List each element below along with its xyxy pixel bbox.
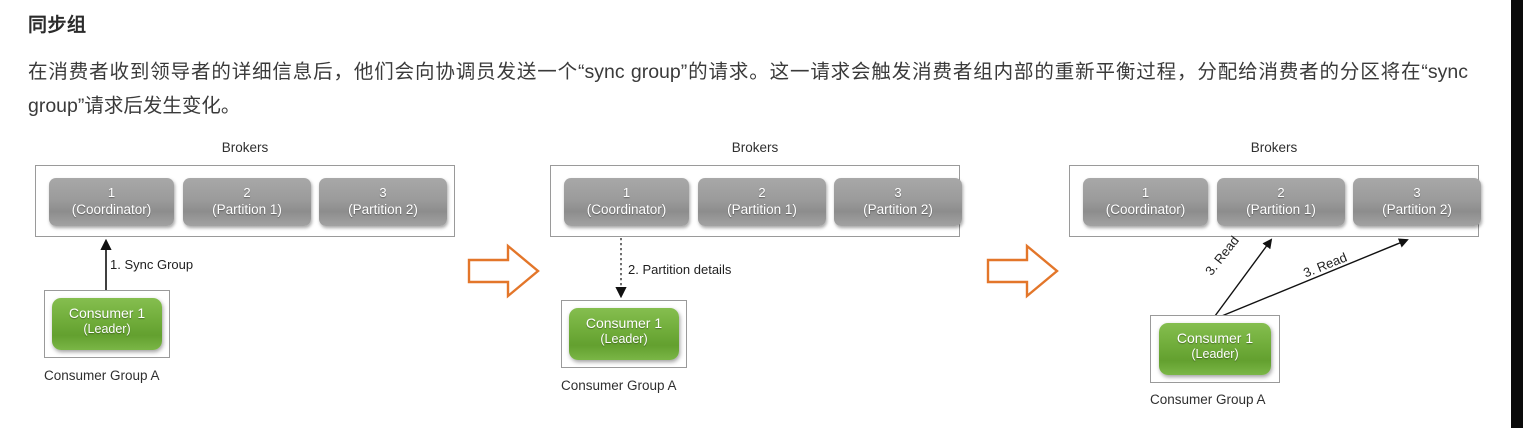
broker-node-1: 1 (Coordinator) xyxy=(1083,178,1208,226)
broker-node-3: 3 (Partition 2) xyxy=(319,178,447,226)
right-edge-strip xyxy=(1511,0,1523,428)
broker-role: (Coordinator) xyxy=(49,201,174,218)
broker-node-2: 2 (Partition 1) xyxy=(183,178,311,226)
broker-node-2: 2 (Partition 1) xyxy=(1217,178,1345,226)
broker-role: (Coordinator) xyxy=(1083,201,1208,218)
broker-number: 3 xyxy=(834,184,962,201)
consumer-group-caption: Consumer Group A xyxy=(561,378,677,393)
diagram-panel-2: Brokers 1 (Coordinator) 2 (Partition 1) … xyxy=(545,140,965,425)
broker-number: 2 xyxy=(698,184,826,201)
broker-role: (Partition 1) xyxy=(698,201,826,218)
broker-node-1: 1 (Coordinator) xyxy=(564,178,689,226)
consumer-node: Consumer 1 (Leader) xyxy=(52,298,162,350)
broker-node-2: 2 (Partition 1) xyxy=(698,178,826,226)
brokers-label: Brokers xyxy=(30,140,460,155)
step-label-1: 1. Sync Group xyxy=(110,257,193,272)
page-title: 同步组 xyxy=(28,10,87,37)
broker-number: 2 xyxy=(1217,184,1345,201)
broker-role: (Partition 2) xyxy=(1353,201,1481,218)
consumer-role: (Leader) xyxy=(1159,347,1271,362)
consumer-name: Consumer 1 xyxy=(1159,323,1271,347)
consumer-name: Consumer 1 xyxy=(569,308,679,332)
flow-arrow-right-icon-1 xyxy=(466,240,542,302)
broker-role: (Partition 1) xyxy=(183,201,311,218)
brokers-container: 1 (Coordinator) 2 (Partition 1) 3 (Parti… xyxy=(550,165,960,237)
consumer-role: (Leader) xyxy=(569,332,679,347)
broker-number: 3 xyxy=(1353,184,1481,201)
step-label-2: 2. Partition details xyxy=(628,262,731,277)
consumer-role: (Leader) xyxy=(52,322,162,337)
broker-number: 2 xyxy=(183,184,311,201)
step-label-3b: 3. Read xyxy=(1301,249,1349,280)
broker-role: (Partition 1) xyxy=(1217,201,1345,218)
broker-node-3: 3 (Partition 2) xyxy=(834,178,962,226)
body-paragraph: 在消费者收到领导者的详细信息后，他们会向协调员发送一个“sync group”的… xyxy=(28,55,1468,123)
read-arrow-partition-2 xyxy=(1212,240,1407,320)
broker-node-1: 1 (Coordinator) xyxy=(49,178,174,226)
consumer-name: Consumer 1 xyxy=(52,298,162,322)
broker-number: 1 xyxy=(1083,184,1208,201)
broker-number: 1 xyxy=(564,184,689,201)
page-root: 同步组 在消费者收到领导者的详细信息后，他们会向协调员发送一个“sync gro… xyxy=(0,0,1523,428)
step-label-3a: 3. Read xyxy=(1202,233,1242,278)
flow-arrow-right-icon-2 xyxy=(985,240,1061,302)
diagram-panel-1: Brokers 1 (Coordinator) 2 (Partition 1) … xyxy=(30,140,460,425)
consumer-node: Consumer 1 (Leader) xyxy=(1159,323,1271,375)
broker-number: 3 xyxy=(319,184,447,201)
kafka-sync-group-diagram: Brokers 1 (Coordinator) 2 (Partition 1) … xyxy=(0,140,1511,425)
broker-role: (Partition 2) xyxy=(319,201,447,218)
consumer-node: Consumer 1 (Leader) xyxy=(569,308,679,360)
broker-number: 1 xyxy=(49,184,174,201)
brokers-container: 1 (Coordinator) 2 (Partition 1) 3 (Parti… xyxy=(35,165,455,237)
brokers-label: Brokers xyxy=(545,140,965,155)
consumer-group-caption: Consumer Group A xyxy=(44,368,160,383)
brokers-container: 1 (Coordinator) 2 (Partition 1) 3 (Parti… xyxy=(1069,165,1479,237)
broker-role: (Partition 2) xyxy=(834,201,962,218)
consumer-group-caption: Consumer Group A xyxy=(1150,392,1266,407)
diagram-panel-3: Brokers 1 (Coordinator) 2 (Partition 1) … xyxy=(1064,140,1484,425)
broker-role: (Coordinator) xyxy=(564,201,689,218)
brokers-label: Brokers xyxy=(1064,140,1484,155)
broker-node-3: 3 (Partition 2) xyxy=(1353,178,1481,226)
